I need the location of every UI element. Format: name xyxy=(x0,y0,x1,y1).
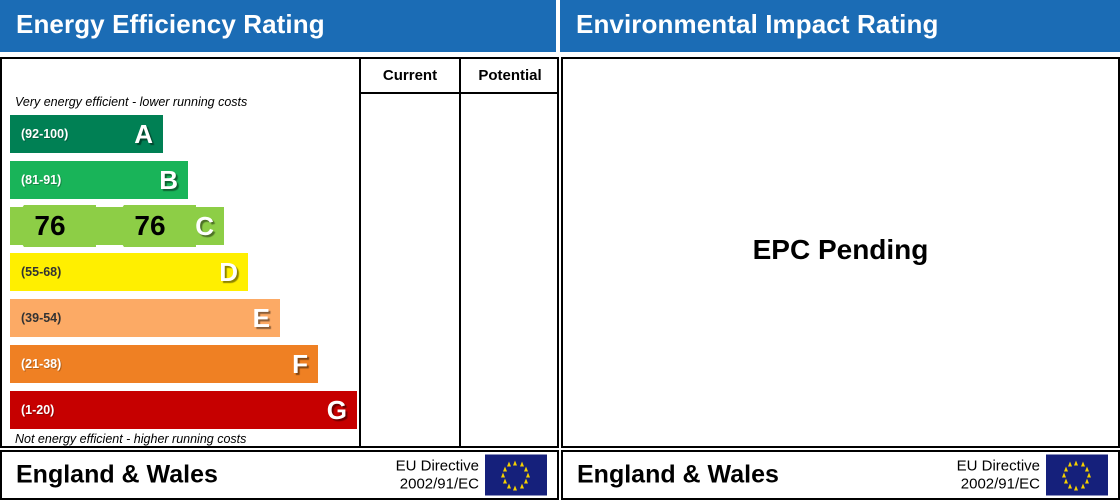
eu-star xyxy=(1064,466,1068,471)
environmental-impact-title: Environmental Impact Rating xyxy=(576,9,938,40)
eu-star xyxy=(524,466,528,471)
epc-pending-message: EPC Pending xyxy=(563,234,1118,266)
eu-star xyxy=(513,485,517,490)
band-letter-f: F xyxy=(292,351,308,377)
eu-star xyxy=(1074,460,1078,465)
eu-star xyxy=(1068,483,1072,488)
eu-star xyxy=(1085,479,1089,484)
potential-rating-value: 76 xyxy=(110,212,190,240)
band-range-g: (1-20) xyxy=(21,403,54,417)
column-header-current: Current xyxy=(361,65,459,87)
eu-flag-icon xyxy=(485,455,547,496)
eu-star xyxy=(1085,466,1089,471)
eu-star xyxy=(1087,473,1091,478)
footer-directive-line1: EU Directive xyxy=(957,457,1040,475)
caption-very-efficient: Very energy efficient - lower running co… xyxy=(15,95,247,109)
band-letter-e: E xyxy=(253,305,270,331)
band-bar-d: (55-68)D xyxy=(10,253,248,291)
current-rating-value: 76 xyxy=(10,212,90,240)
environmental-impact-panel: EPC Pending xyxy=(561,57,1120,448)
band-range-f: (21-38) xyxy=(21,357,61,371)
column-header-potential: Potential xyxy=(461,65,559,87)
band-bar-f: (21-38)F xyxy=(10,345,318,383)
environmental-impact-header-bar: Environmental Impact Rating xyxy=(560,0,1120,52)
energy-efficiency-header-bar: Energy Efficiency Rating xyxy=(0,0,556,52)
footer-left: England & Wales EU Directive 2002/91/EC xyxy=(0,450,559,500)
column-divider-current xyxy=(359,59,361,446)
eu-star xyxy=(503,466,507,471)
footer-region-label: England & Wales xyxy=(16,461,218,490)
eu-star xyxy=(1062,473,1066,478)
energy-efficiency-title: Energy Efficiency Rating xyxy=(16,9,325,40)
band-range-a: (92-100) xyxy=(21,127,68,141)
eu-star xyxy=(1081,462,1085,467)
band-letter-d: D xyxy=(219,259,238,285)
column-header-rule xyxy=(359,92,557,94)
footer-directive-line1: EU Directive xyxy=(396,457,479,475)
eu-star xyxy=(1064,479,1068,484)
eu-star xyxy=(520,462,524,467)
eu-flag-icon xyxy=(1046,455,1108,496)
eu-star xyxy=(1068,462,1072,467)
current-rating-arrow: 76 xyxy=(10,205,96,247)
caption-not-efficient: Not energy efficient - higher running co… xyxy=(15,432,246,446)
band-letter-c: C xyxy=(195,213,214,239)
eu-star xyxy=(501,473,505,478)
footer-eu-directive: EU Directive 2002/91/EC xyxy=(957,457,1040,492)
footer-right: England & Wales EU Directive 2002/91/EC xyxy=(561,450,1120,500)
band-letter-b: B xyxy=(159,167,178,193)
footer-eu-directive: EU Directive 2002/91/EC xyxy=(396,457,479,492)
column-divider-potential xyxy=(459,59,461,446)
footer-region-label: England & Wales xyxy=(577,461,779,490)
band-range-d: (55-68) xyxy=(21,265,61,279)
eu-star xyxy=(1074,485,1078,490)
eu-star xyxy=(1081,483,1085,488)
footer-directive-line2: 2002/91/EC xyxy=(396,475,479,493)
band-letter-a: A xyxy=(134,121,153,147)
eu-star xyxy=(507,462,511,467)
band-bar-g: (1-20)G xyxy=(10,391,357,429)
band-bar-a: (92-100)A xyxy=(10,115,163,153)
band-range-e: (39-54) xyxy=(21,311,61,325)
band-range-b: (81-91) xyxy=(21,173,61,187)
band-bar-b: (81-91)B xyxy=(10,161,188,199)
eu-star xyxy=(526,473,530,478)
potential-rating-arrow: 76 xyxy=(110,205,196,247)
band-bar-e: (39-54)E xyxy=(10,299,280,337)
eu-star xyxy=(507,483,511,488)
footer-directive-line2: 2002/91/EC xyxy=(957,475,1040,493)
epc-certificate-graphic: Energy Efficiency Rating Environmental I… xyxy=(0,0,1120,500)
band-letter-g: G xyxy=(327,397,347,423)
energy-efficiency-panel: Current Potential Very energy efficient … xyxy=(0,57,559,448)
eu-star xyxy=(513,460,517,465)
eu-star xyxy=(520,483,524,488)
eu-star xyxy=(503,479,507,484)
eu-star xyxy=(524,479,528,484)
